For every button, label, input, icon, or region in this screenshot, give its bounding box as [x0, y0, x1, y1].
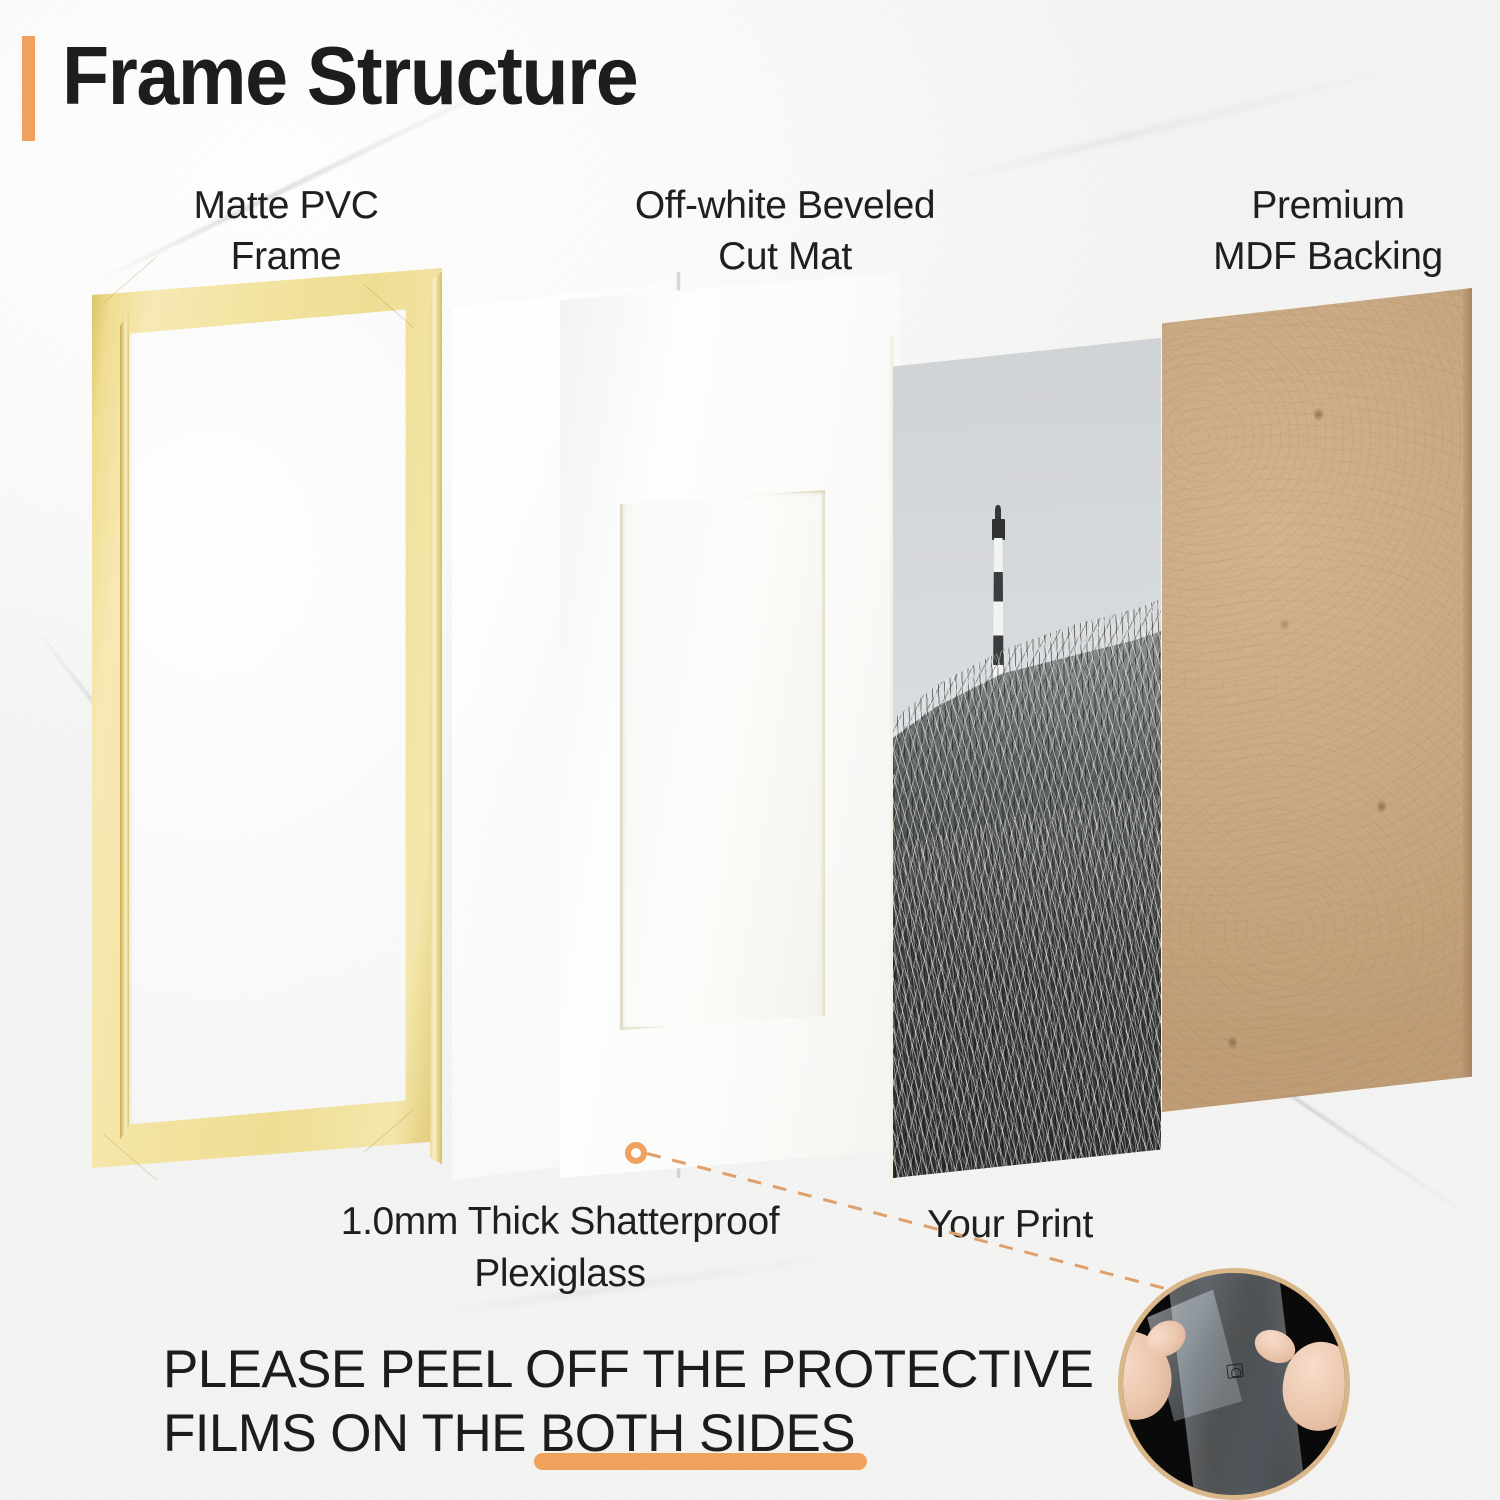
- lighthouse-top: [995, 505, 1001, 519]
- mdf-right-edge: [1463, 288, 1472, 1112]
- caption-line: 1.0mm Thick: [341, 1200, 559, 1243]
- print-dune-grass-foreground: [893, 792, 1161, 1178]
- film-warning-badge-icon: [1227, 1363, 1245, 1379]
- layer-premium-mdf-backing: [1162, 288, 1472, 1112]
- layer-matte-pvc-frame: [92, 268, 442, 1168]
- frame-edge-right: [430, 272, 442, 1165]
- mdf-knot: [1228, 1036, 1237, 1049]
- infographic-canvas: Frame Structure Matte PVC Frame Off-whit…: [0, 0, 1500, 1500]
- mdf-knot: [1377, 800, 1386, 813]
- peel-instruction-line-1: PLEASE PEEL OFF THE PROTECTIVE: [163, 1338, 1063, 1402]
- connector-ring-marker-icon: [625, 1142, 647, 1164]
- peel-instruction-highlight: BOTH SIDES: [540, 1402, 855, 1466]
- inset-peel-film-photo: [1118, 1268, 1350, 1500]
- mdf-knot: [1280, 618, 1289, 631]
- frame-inner-shadow: [128, 309, 406, 1124]
- peel-instruction: PLEASE PEEL OFF THE PROTECTIVE FILMS ON …: [163, 1338, 1063, 1466]
- mat-beveled-edge: [620, 490, 825, 1030]
- caption-shatterproof-plexiglass: 1.0mm Thick Shatterproof Plexiglass: [250, 1196, 870, 1301]
- peel-instruction-line-2-plain: FILMS ON THE: [163, 1404, 540, 1463]
- lighthouse-lamp-room: [992, 519, 1005, 540]
- peel-instruction-line-2: FILMS ON THE BOTH SIDES: [163, 1402, 1063, 1466]
- layer-your-print: [893, 338, 1161, 1178]
- mdf-knot: [1314, 408, 1323, 421]
- caption-your-print: Your Print: [860, 1203, 1160, 1247]
